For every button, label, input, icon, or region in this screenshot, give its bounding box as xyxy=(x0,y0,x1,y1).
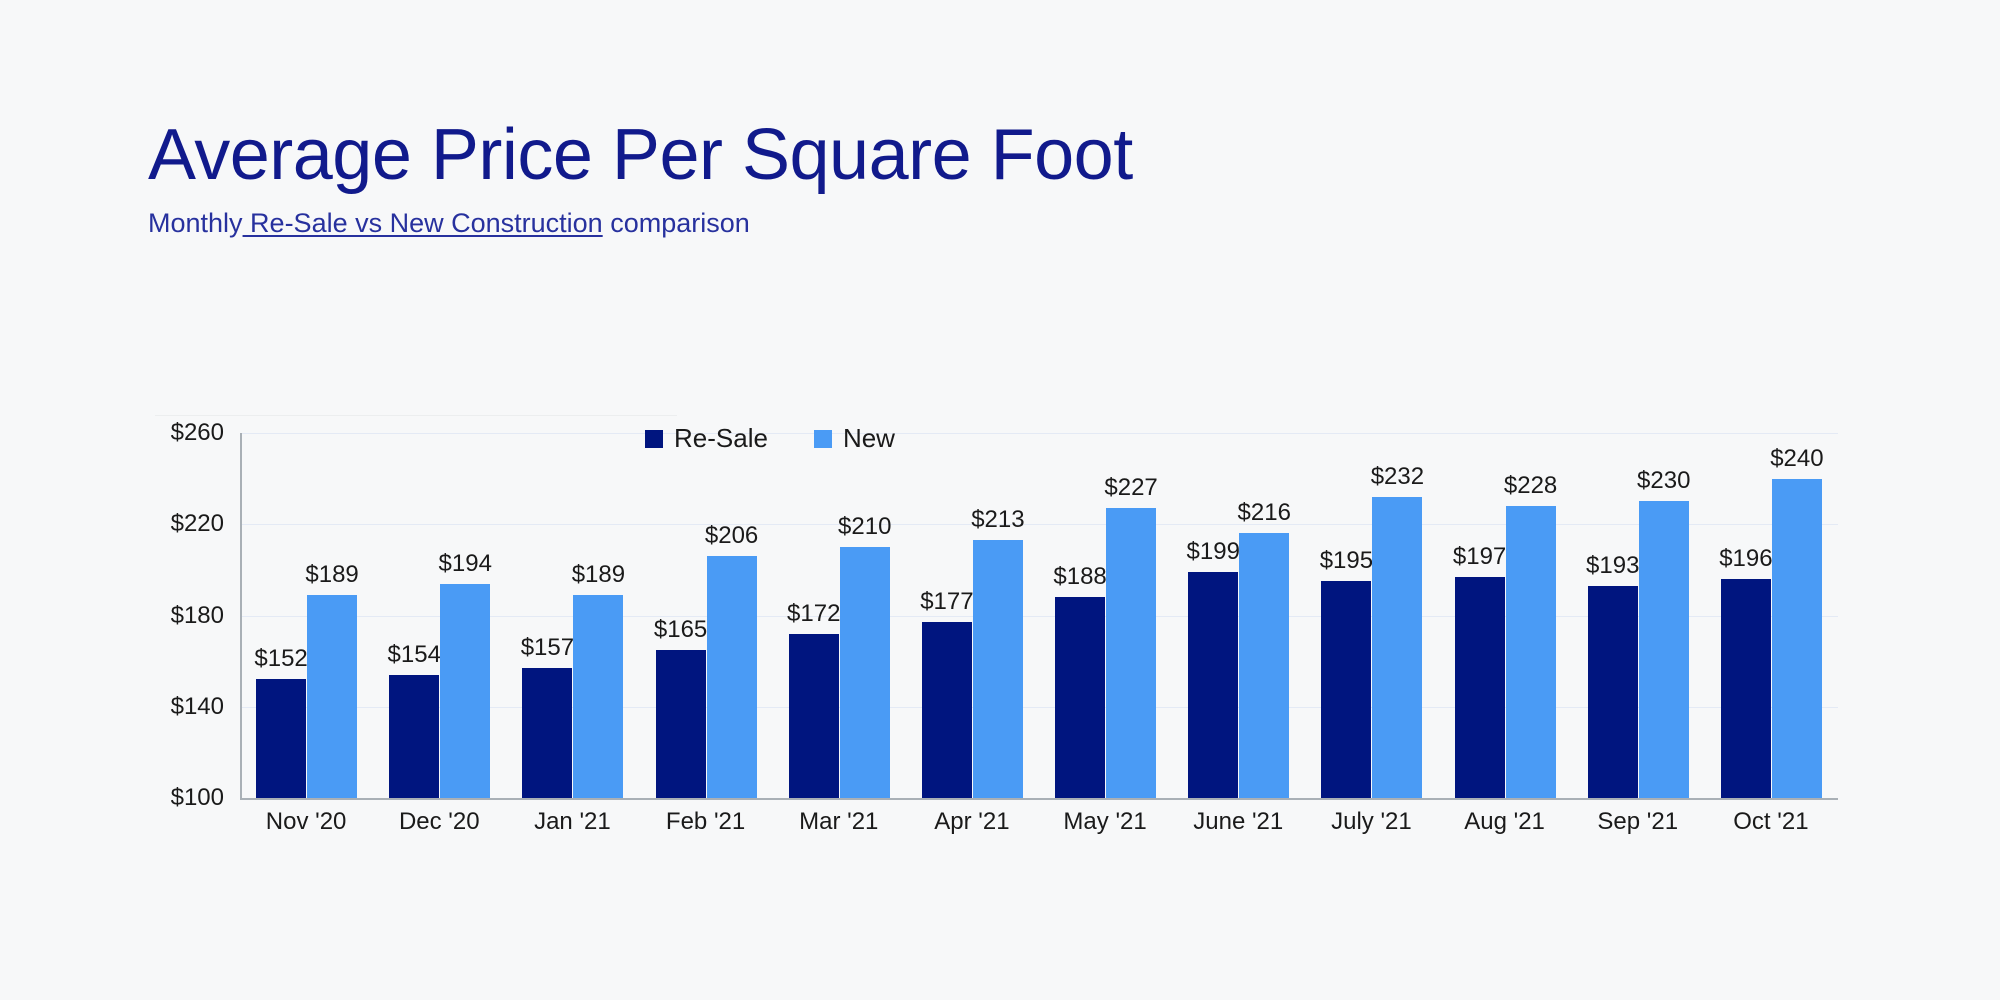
page-title: Average Price Per Square Foot xyxy=(148,118,1648,194)
bar-re-sale[interactable]: $195 xyxy=(1321,581,1371,798)
bar-value-label: $194 xyxy=(439,550,492,578)
x-axis-line xyxy=(240,798,1838,800)
x-axis-tick-label: July '21 xyxy=(1331,808,1412,836)
bar-new[interactable]: $206 xyxy=(707,556,757,798)
bar-group[interactable]: $195$232July '21 xyxy=(1321,433,1422,798)
page-subtitle: Monthly Re-Sale vs New Construction comp… xyxy=(148,208,1648,239)
y-axis-line xyxy=(240,433,242,798)
bar-group[interactable]: $177$213Apr '21 xyxy=(922,433,1023,798)
x-axis-tick-label: Oct '21 xyxy=(1733,808,1808,836)
bar-value-label: $232 xyxy=(1371,463,1424,491)
bar-value-label: $154 xyxy=(388,641,441,669)
bar-re-sale[interactable]: $196 xyxy=(1721,579,1771,798)
bar-new[interactable]: $194 xyxy=(440,584,490,798)
y-axis-tick-label: $140 xyxy=(171,693,224,721)
chart-legend[interactable]: Re-Sale New xyxy=(645,423,895,454)
bar-group[interactable]: $157$189Jan '21 xyxy=(522,433,623,798)
bar-value-label: $177 xyxy=(920,588,973,616)
bar-value-label: $197 xyxy=(1453,543,1506,571)
bar-re-sale[interactable]: $177 xyxy=(922,622,972,798)
bar-value-label: $240 xyxy=(1770,445,1823,473)
legend-item-new[interactable]: New xyxy=(814,423,895,454)
square-swatch-icon xyxy=(645,430,663,448)
x-axis-tick-label: Mar '21 xyxy=(799,808,878,836)
bar-new[interactable]: $240 xyxy=(1772,479,1822,798)
x-axis-tick-label: Sep '21 xyxy=(1597,808,1678,836)
bar-group[interactable]: $152$189Nov '20 xyxy=(256,433,357,798)
bar-value-label: $216 xyxy=(1238,499,1291,527)
x-axis-tick-label: June '21 xyxy=(1193,808,1283,836)
bar-re-sale[interactable]: $165 xyxy=(656,650,706,798)
legend-label: Re-Sale xyxy=(674,423,768,454)
bar-new[interactable]: $189 xyxy=(307,595,357,798)
bar-new[interactable]: $228 xyxy=(1506,506,1556,798)
bar-chart[interactable]: $100$140$180$220$260 $152$189Nov '20$154… xyxy=(155,415,1855,855)
bar-value-label: $189 xyxy=(305,561,358,589)
chart-object-edge xyxy=(155,415,677,416)
bar-value-label: $195 xyxy=(1320,547,1373,575)
bar-value-label: $165 xyxy=(654,616,707,644)
y-axis-tick-label: $180 xyxy=(171,602,224,630)
bar-new[interactable]: $230 xyxy=(1639,501,1689,798)
bar-new[interactable]: $232 xyxy=(1372,497,1422,798)
bar-group[interactable]: $172$210Mar '21 xyxy=(789,433,890,798)
bar-new[interactable]: $227 xyxy=(1106,508,1156,798)
bar-re-sale[interactable]: $199 xyxy=(1188,572,1238,798)
y-axis-tick-label: $260 xyxy=(171,419,224,447)
bar-value-label: $188 xyxy=(1053,563,1106,591)
x-axis-tick-label: Aug '21 xyxy=(1464,808,1545,836)
bar-value-label: $157 xyxy=(521,634,574,662)
x-axis-tick-label: Nov '20 xyxy=(266,808,347,836)
bar-new[interactable]: $210 xyxy=(840,547,890,798)
bar-value-label: $228 xyxy=(1504,472,1557,500)
bar-value-label: $213 xyxy=(971,506,1024,534)
bar-group[interactable]: $193$230Sep '21 xyxy=(1588,433,1689,798)
bar-value-label: $199 xyxy=(1187,538,1240,566)
bar-value-label: $227 xyxy=(1104,474,1157,502)
x-axis-tick-label: May '21 xyxy=(1063,808,1146,836)
bar-group[interactable]: $199$216June '21 xyxy=(1188,433,1289,798)
x-axis-tick-label: Apr '21 xyxy=(934,808,1009,836)
plot-area: $100$140$180$220$260 $152$189Nov '20$154… xyxy=(240,433,1838,798)
y-axis-tick-label: $100 xyxy=(171,784,224,812)
x-axis-tick-label: Jan '21 xyxy=(534,808,611,836)
bar-group[interactable]: $165$206Feb '21 xyxy=(656,433,757,798)
x-axis-tick-label: Dec '20 xyxy=(399,808,480,836)
x-axis-tick-label: Feb '21 xyxy=(666,808,745,836)
bar-value-label: $210 xyxy=(838,513,891,541)
square-swatch-icon xyxy=(814,430,832,448)
bar-value-label: $193 xyxy=(1586,552,1639,580)
bar-value-label: $230 xyxy=(1637,467,1690,495)
y-axis-tick-label: $220 xyxy=(171,510,224,538)
subtitle-prefix: Monthly xyxy=(148,208,243,238)
bar-group[interactable]: $188$227May '21 xyxy=(1055,433,1156,798)
bar-new[interactable]: $189 xyxy=(573,595,623,798)
bar-re-sale[interactable]: $172 xyxy=(789,634,839,798)
bar-new[interactable]: $216 xyxy=(1239,533,1289,798)
legend-label: New xyxy=(843,423,895,454)
chart-header: Average Price Per Square Foot Monthly Re… xyxy=(148,118,1648,239)
bar-value-label: $206 xyxy=(705,522,758,550)
bar-re-sale[interactable]: $193 xyxy=(1588,586,1638,798)
bar-re-sale[interactable]: $188 xyxy=(1055,597,1105,798)
bar-re-sale[interactable]: $197 xyxy=(1455,577,1505,798)
bar-value-label: $196 xyxy=(1719,545,1772,573)
bar-new[interactable]: $213 xyxy=(973,540,1023,798)
bar-value-label: $172 xyxy=(787,600,840,628)
subtitle-emphasis: Re-Sale vs New Construction xyxy=(243,208,603,238)
bar-re-sale[interactable]: $152 xyxy=(256,679,306,798)
bar-value-label: $189 xyxy=(572,561,625,589)
bar-group[interactable]: $154$194Dec '20 xyxy=(389,433,490,798)
bar-value-label: $152 xyxy=(254,645,307,673)
legend-item-re-sale[interactable]: Re-Sale xyxy=(645,423,768,454)
bar-group[interactable]: $197$228Aug '21 xyxy=(1455,433,1556,798)
bar-group[interactable]: $196$240Oct '21 xyxy=(1721,433,1822,798)
bar-re-sale[interactable]: $157 xyxy=(522,668,572,798)
subtitle-suffix: comparison xyxy=(603,208,750,238)
bar-re-sale[interactable]: $154 xyxy=(389,675,439,798)
